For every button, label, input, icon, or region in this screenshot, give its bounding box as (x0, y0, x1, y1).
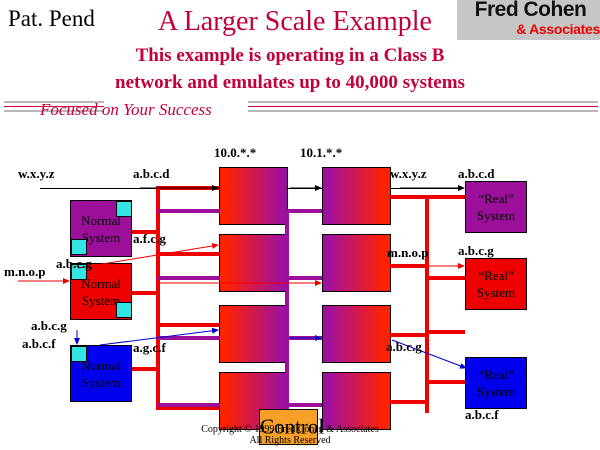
label-abcg-normal-red: a.b.c.g (56, 256, 92, 272)
label-agcf-left-bus: a.g.c.f (133, 340, 166, 356)
label-mnop-right: m.n.o.p (387, 245, 429, 261)
label-wxyz-right: w.x.y.z (390, 166, 426, 182)
label-afcg-left-bus: a.f.c.g (133, 231, 166, 247)
label-wxyz-left: w.x.y.z (18, 166, 54, 182)
label-abcg-normal-blue: a.b.c.g (31, 318, 67, 334)
label-abcd-left-bus: a.b.c.d (133, 166, 169, 182)
label-abcd-real: a.b.c.d (458, 166, 494, 182)
arrow-abcg-diagonal (78, 245, 218, 268)
diagram-arrow-overlay (0, 0, 600, 450)
label-mnop-left: m.n.o.p (4, 264, 46, 280)
label-abcg-real: a.b.c.g (458, 243, 494, 259)
label-abcg-right-bus: a.b.c.g (386, 339, 422, 355)
label-abcf-normal-blue: a.b.c.f (22, 336, 56, 352)
label-abcf-real: a.b.c.f (465, 407, 499, 423)
